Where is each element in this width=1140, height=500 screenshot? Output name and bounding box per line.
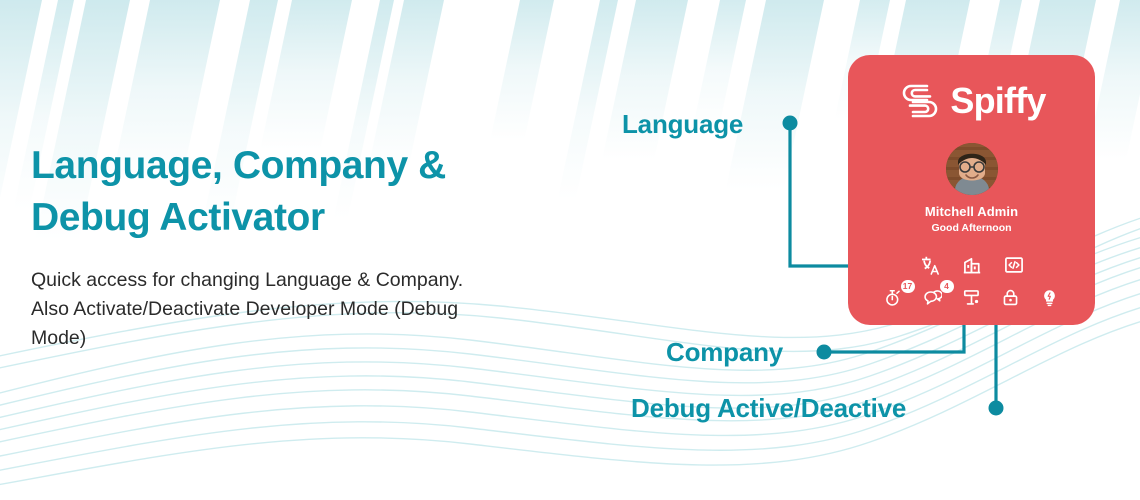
- messages-icon[interactable]: 4: [923, 287, 943, 307]
- brand-logo: Spiffy: [848, 75, 1095, 127]
- user-profile-card: Spiffy: [848, 55, 1095, 325]
- brand-name: Spiffy: [950, 83, 1045, 119]
- spiffy-paperclip-logo-icon: [897, 79, 943, 123]
- banner-canvas: Language, Company & Debug Activator Quic…: [0, 0, 1140, 500]
- company-icon[interactable]: [962, 255, 982, 275]
- lock-icon[interactable]: [1001, 287, 1021, 307]
- connector-dot-language: [783, 116, 798, 131]
- badge-count: 17: [901, 280, 915, 293]
- timesheet-timer-icon[interactable]: 17: [884, 287, 904, 307]
- user-greeting: Good Afternoon: [848, 222, 1095, 234]
- card-icon-row-primary: [848, 255, 1095, 275]
- connector-dot-debug: [989, 401, 1004, 416]
- connector-dot-company: [817, 345, 832, 360]
- avatar: [946, 143, 998, 195]
- tips-icon[interactable]: [1040, 287, 1060, 307]
- badge-count: 4: [940, 280, 954, 293]
- card-icon-row-secondary: 17 4: [848, 287, 1095, 307]
- debug-icon[interactable]: [1004, 255, 1024, 275]
- user-name: Mitchell Admin: [848, 204, 1095, 219]
- activity-icon[interactable]: [962, 287, 982, 307]
- translate-icon[interactable]: [920, 255, 940, 275]
